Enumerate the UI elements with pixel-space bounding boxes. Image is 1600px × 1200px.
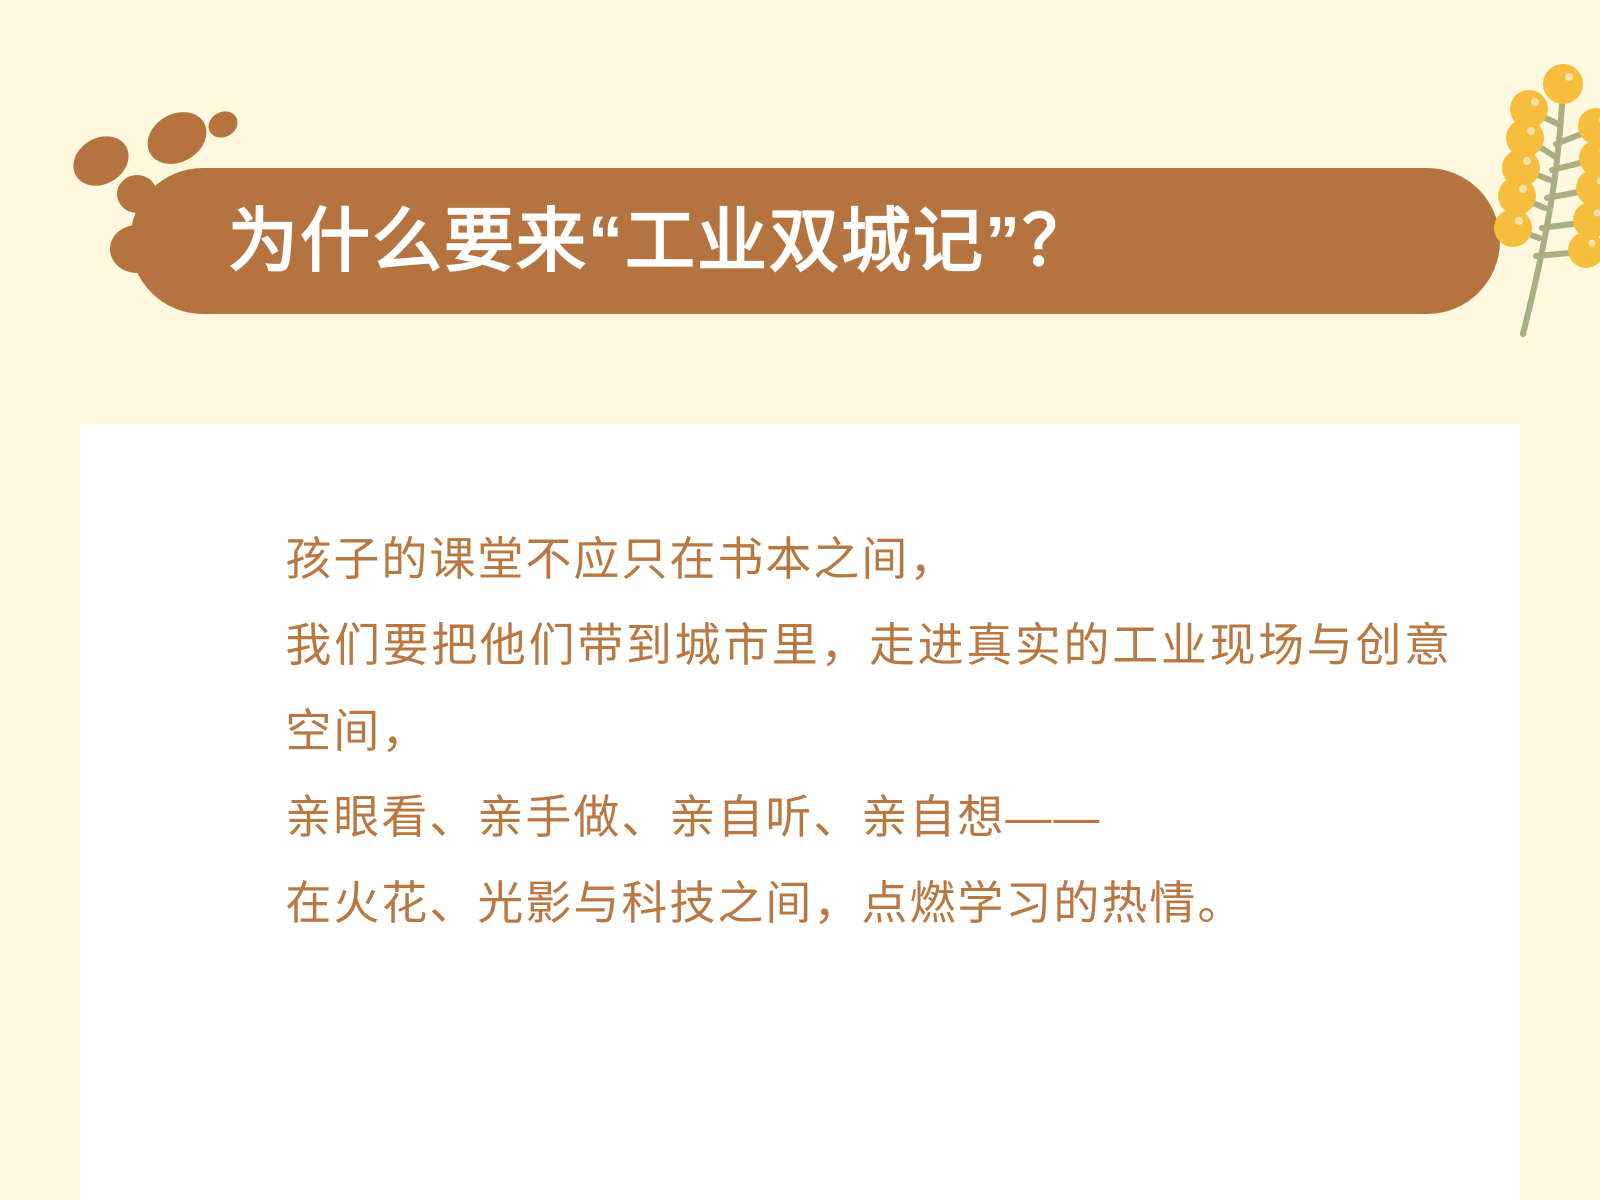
paragraph-line: 亲眼看、亲手做、亲自听、亲自想—— (152, 774, 1452, 860)
paragraph-line: 在火花、光影与科技之间，点燃学习的热情。 (152, 860, 1452, 946)
paragraph-line: 孩子的课堂不应只在书本之间， (152, 516, 1452, 602)
page-title: 为什么要来“工业双城记”？ (130, 206, 1094, 276)
content-card: 孩子的课堂不应只在书本之间， 我们要把他们带到城市里，走进真实的工业现场与创意空… (80, 424, 1520, 1200)
title-banner: 为什么要来“工业双城记”？ (130, 168, 1500, 314)
blob-icon (138, 102, 216, 175)
poster-root: 为什么要来“工业双城记”？ (0, 0, 1600, 1200)
paragraph-line: 我们要把他们带到城市里，走进真实的工业现场与创意空间， (152, 602, 1452, 774)
body-paragraph: 孩子的课堂不应只在书本之间， 我们要把他们带到城市里，走进真实的工业现场与创意空… (152, 516, 1452, 946)
blob-icon (204, 106, 242, 142)
